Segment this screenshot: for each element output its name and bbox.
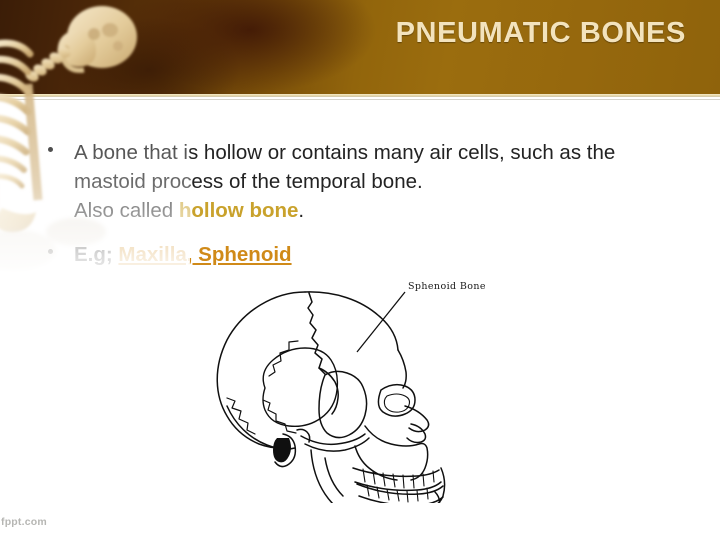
definition-sentence: A bone that is hollow or contains many a… [74,141,621,193]
sphenoid-bone-annotation-label: Sphenoid Bone [408,281,486,292]
bullet-marker-icon [48,147,53,152]
slide-canvas: PNEUMATIC BONES [0,0,720,539]
bullet-item-examples: E.g; Maxilla, Sphenoid [48,240,668,269]
bullet-item-definition: A bone that is hollow or contains many a… [48,138,688,225]
slide-header-banner: PNEUMATIC BONES [0,0,720,96]
bullet-text-definition: A bone that is hollow or contains many a… [74,138,688,225]
bullet-text-examples: E.g; Maxilla, Sphenoid [74,240,668,269]
keyword-hollow-bone: hollow bone [179,199,299,222]
also-called-suffix: . [298,199,304,222]
page-title: PNEUMATIC BONES [396,17,686,50]
annotation-leader-line [357,292,405,352]
lateral-skull-diagram: Sphenoid Bone [205,278,515,503]
also-called-prefix: Also called [74,199,179,222]
examples-link[interactable]: Maxilla, Sphenoid [118,243,291,266]
bullet-marker-icon [48,249,53,254]
examples-prefix: E.g; [74,243,118,266]
banner-divider-line [0,94,720,97]
fppt-watermark: fppt.com [1,516,47,528]
slide-body: A bone that is hollow or contains many a… [0,100,720,539]
skull-drawing [205,278,515,503]
